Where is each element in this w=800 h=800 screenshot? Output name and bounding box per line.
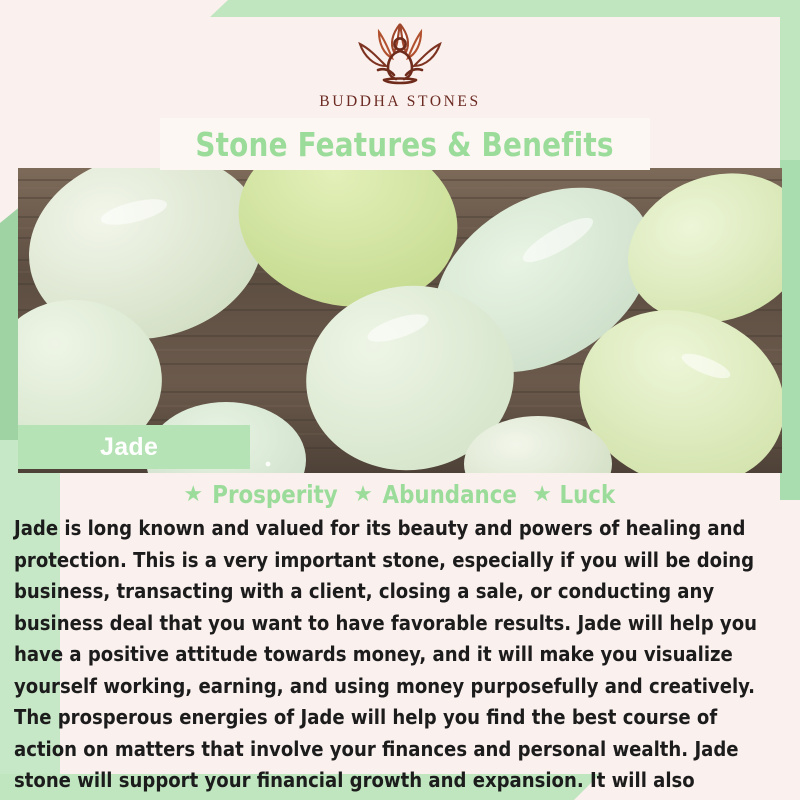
stone-info-card: BUDDHA STONES Stone Features & Benefits … (0, 0, 800, 800)
benefit-label: Abundance (382, 480, 516, 509)
star-icon: ★ (183, 483, 203, 505)
decorative-bar-top (210, 0, 800, 17)
stone-description: Jade is long known and valued for its be… (14, 513, 778, 800)
stone-name-tag: Jade (18, 425, 250, 469)
star-icon: ★ (353, 483, 373, 505)
benefit-item-abundance: ★ Abundance (353, 480, 520, 509)
benefit-item-prosperity: ★ Prosperity (183, 480, 341, 509)
brand-logo: BUDDHA STONES (0, 18, 800, 118)
brand-name: BUDDHA STONES (319, 93, 480, 111)
stone-name-label: Jade (100, 433, 158, 462)
decorative-bar-right-accent (780, 160, 800, 500)
benefits-row: ★ Prosperity ★ Abundance ★ Luck (0, 480, 800, 509)
benefit-label: Prosperity (212, 480, 337, 509)
lotus-meditating-figure-icon (334, 18, 466, 90)
page-title: Stone Features & Benefits (196, 125, 614, 164)
star-icon: ★ (532, 483, 552, 505)
title-banner: Stone Features & Benefits (160, 118, 650, 170)
benefit-item-luck: ★ Luck (532, 480, 616, 509)
benefit-label: Luck (559, 480, 615, 509)
